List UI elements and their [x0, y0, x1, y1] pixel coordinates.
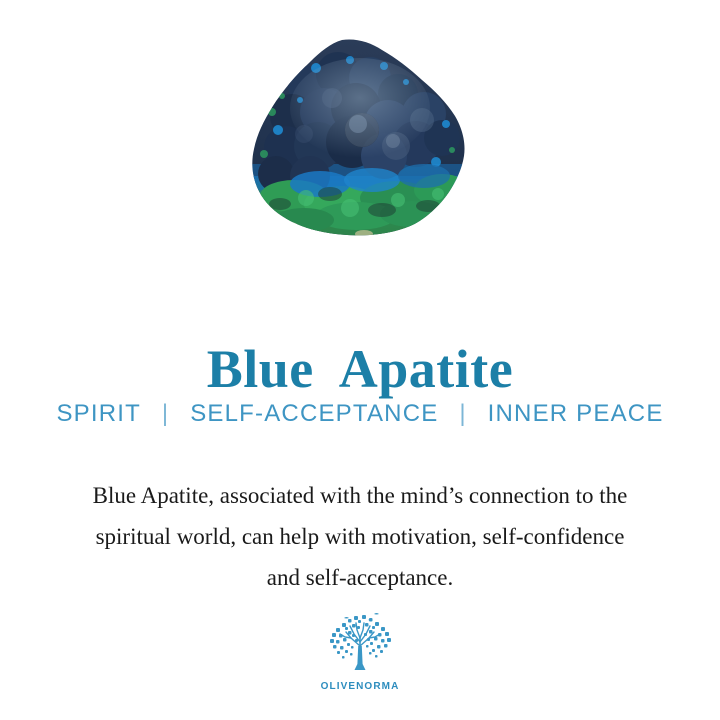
- mineral-specimen-image: [246, 38, 474, 246]
- page-title: Blue Apatite: [0, 338, 720, 400]
- tree-logo-icon: [324, 612, 396, 678]
- keyword-separator: |: [149, 398, 182, 430]
- keyword-inner-peace: INNER PEACE: [488, 398, 664, 430]
- specimen-image-container: [0, 0, 720, 272]
- product-info-card: Blue Apatite SPIRIT | SELF-ACCEPTANCE | …: [0, 0, 720, 720]
- description-text: Blue Apatite, associated with the mind’s…: [34, 475, 686, 598]
- description-line: spiritual world, can help with motivatio…: [34, 516, 686, 557]
- description-line: and self-acceptance.: [34, 557, 686, 598]
- keyword-self-acceptance: SELF-ACCEPTANCE: [190, 398, 438, 430]
- brand-logo: OLIVENORMA: [300, 612, 420, 692]
- brand-wordmark: OLIVENORMA: [321, 681, 400, 692]
- keyword-spirit: SPIRIT: [56, 398, 141, 430]
- keyword-list: SPIRIT | SELF-ACCEPTANCE | INNER PEACE: [0, 398, 720, 430]
- keyword-separator: |: [446, 398, 479, 430]
- description-line: Blue Apatite, associated with the mind’s…: [34, 475, 686, 516]
